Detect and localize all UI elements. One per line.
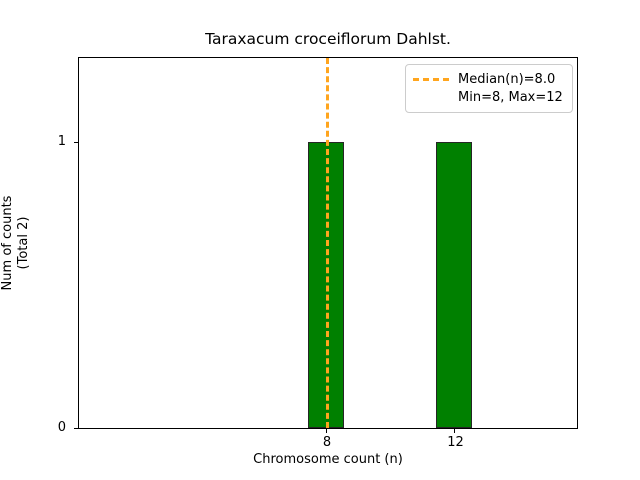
dashed-line-icon bbox=[413, 78, 449, 81]
y-tick-label-1: 1 bbox=[58, 134, 66, 149]
blank-swatch-icon bbox=[413, 96, 449, 99]
legend: Median(n)=8.0 Min=8, Max=12 bbox=[405, 64, 573, 113]
legend-label-minmax: Min=8, Max=12 bbox=[458, 90, 563, 105]
x-tick-12: 12 bbox=[454, 428, 455, 433]
x-tick-label-12: 12 bbox=[447, 435, 464, 450]
plot-axes: 0 1 8 12 Median(n)=8.0 Min=8, Max=12 bbox=[78, 57, 578, 429]
plot-area bbox=[79, 58, 577, 428]
legend-entry-median: Median(n)=8.0 bbox=[413, 70, 565, 88]
median-line-icon bbox=[326, 58, 329, 428]
y-axis-label: Num of counts (Total 2) bbox=[0, 57, 32, 429]
y-axis-label-wrapper: Num of counts (Total 2) bbox=[0, 57, 44, 429]
legend-label-median: Median(n)=8.0 bbox=[458, 72, 555, 87]
chart-title: Taraxacum croceiflorum Dahlst. bbox=[78, 30, 578, 48]
legend-entry-minmax: Min=8, Max=12 bbox=[413, 88, 565, 106]
y-tick-0: 0 bbox=[74, 428, 79, 429]
bar-12 bbox=[436, 142, 472, 428]
chart-figure: Taraxacum croceiflorum Dahlst. 0 1 8 12 … bbox=[0, 0, 640, 480]
x-tick-8: 8 bbox=[326, 428, 327, 433]
x-tick-label-8: 8 bbox=[323, 435, 331, 450]
y-tick-label-0: 0 bbox=[58, 420, 66, 435]
x-axis-label: Chromosome count (n) bbox=[78, 452, 578, 467]
